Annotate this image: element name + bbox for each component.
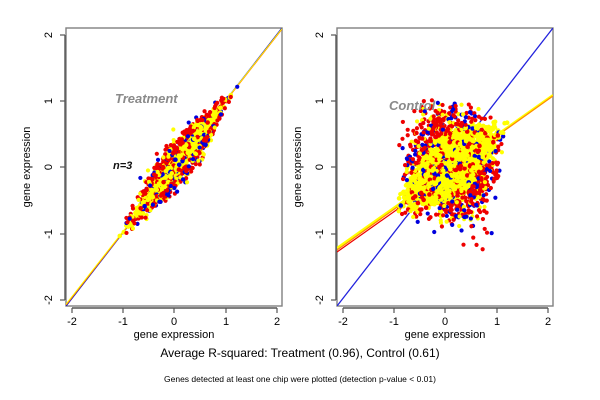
x-tick-label: 2 <box>545 316 551 328</box>
panel-label-control: Control <box>389 98 436 113</box>
y-tick-label: -1 <box>43 229 55 239</box>
scatter-figure: 2 1 0 -1 -2 gene expression -2 -1 0 1 2 … <box>0 0 600 400</box>
x-axis-title: gene expression <box>405 329 486 341</box>
y-tick-label: 2 <box>314 32 326 38</box>
caption-r-squared: Average R-squared: Treatment (0.96), Con… <box>160 346 439 360</box>
x-axis-title: gene expression <box>134 329 215 341</box>
y-tick-label: 1 <box>314 98 326 104</box>
x-tick-label: 0 <box>171 316 177 328</box>
x-tick-label: 1 <box>494 316 500 328</box>
y-tick-label: 0 <box>314 164 326 170</box>
y-tick-label: 1 <box>43 98 55 104</box>
x-tick-label: 1 <box>223 316 229 328</box>
caption-subtitle: Genes detected at least one chip were pl… <box>164 374 436 384</box>
y-axis-title: gene expression <box>292 127 304 208</box>
sample-size-annotation: n=3 <box>113 160 132 172</box>
y-tick-label: 0 <box>43 164 55 170</box>
y-tick-label: -1 <box>314 229 326 239</box>
x-tick-label: 0 <box>442 316 448 328</box>
y-tick-label: 2 <box>43 32 55 38</box>
y-tick-label: -2 <box>43 295 55 305</box>
x-tick-label: 2 <box>274 316 280 328</box>
y-axis-title: gene expression <box>21 127 33 208</box>
y-tick-label: -2 <box>314 295 326 305</box>
panel-label-treatment: Treatment <box>115 91 178 106</box>
x-tick-label: -2 <box>338 316 348 328</box>
x-tick-label: -1 <box>389 316 399 328</box>
x-tick-label: -2 <box>67 316 77 328</box>
x-tick-label: -1 <box>118 316 128 328</box>
